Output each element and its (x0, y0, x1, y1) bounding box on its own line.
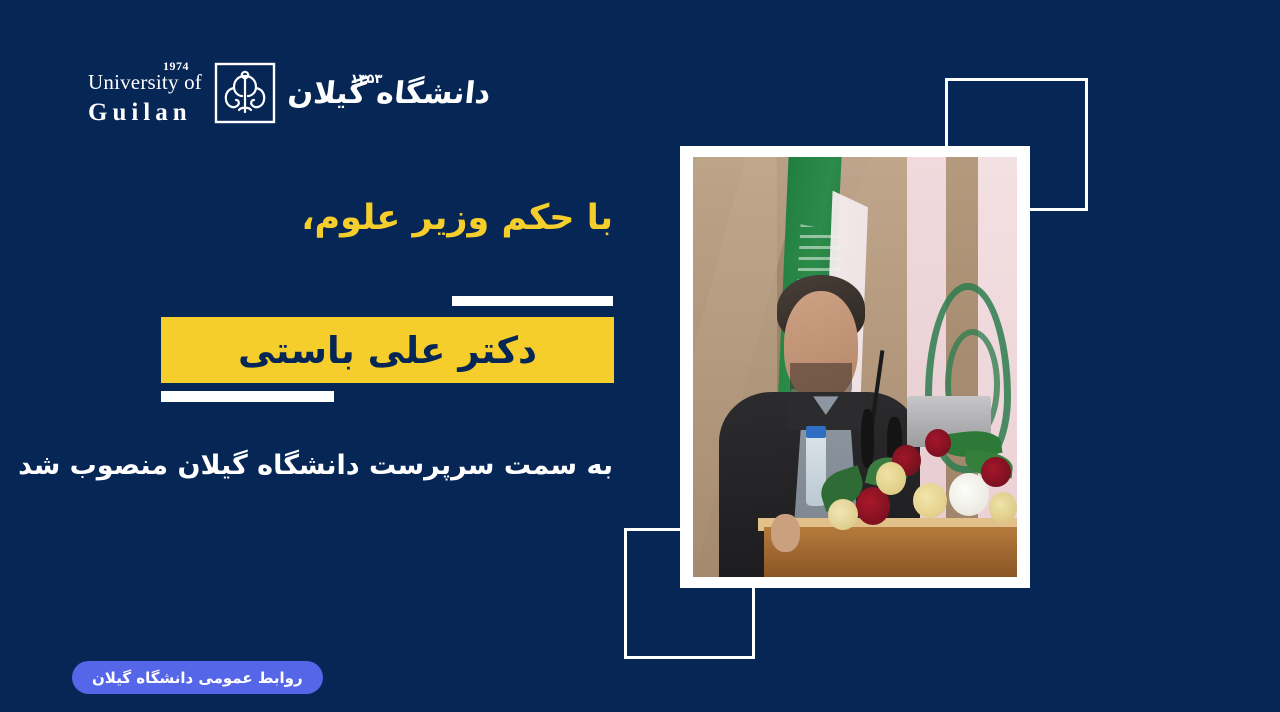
logo-year-gregorian: 1974 (163, 60, 189, 72)
poster-canvas: 1974 University of Guilan ۱۳۵۳ دانشگاه (0, 0, 1280, 712)
logo-persian-name: دانشگاه گیلان (286, 76, 492, 111)
speaker-hand (771, 514, 800, 552)
logo-english-text: 1974 University of Guilan (88, 62, 202, 125)
speaker-photo (693, 157, 1017, 577)
logo-english-line2: Guilan (88, 100, 192, 125)
name-highlight-box: دکتر علی باستی (161, 317, 614, 383)
red-rose (981, 457, 1011, 488)
headline-subline: به سمت سرپرست دانشگاه گیلان منصوب شد (18, 450, 613, 481)
photo-frame (680, 146, 1030, 588)
headline-kicker: با حکم وزیر علوم، (301, 198, 613, 238)
public-relations-badge: روابط عمومی دانشگاه گیلان (72, 661, 323, 694)
yellow-rose (876, 462, 906, 495)
yellow-lily (913, 483, 947, 518)
red-rose (925, 429, 951, 457)
university-logo: 1974 University of Guilan ۱۳۵۳ دانشگاه (88, 46, 490, 140)
logo-persian-text: ۱۳۵۳ دانشگاه گیلان (288, 76, 490, 111)
flower-bouquet (816, 422, 1017, 540)
badge-label: روابط عمومی دانشگاه گیلان (92, 669, 303, 687)
rule-below-name (161, 391, 334, 402)
rule-above-name (452, 296, 613, 306)
yellow-rose (828, 499, 858, 530)
person-name: دکتر علی باستی (238, 329, 537, 372)
yellow-rose (989, 492, 1017, 523)
guilan-university-emblem-icon (214, 62, 276, 124)
logo-english-line1: University of (88, 72, 202, 93)
